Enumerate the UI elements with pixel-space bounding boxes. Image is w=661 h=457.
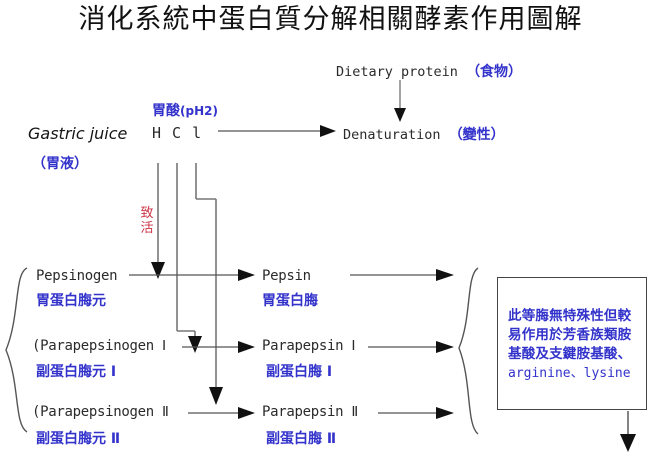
note-box-exit-arrow — [0, 0, 661, 457]
diagram-canvas: 消化系統中蛋白質分解相關酵素作用圖解 Dietary protein （食物） … — [0, 0, 661, 457]
